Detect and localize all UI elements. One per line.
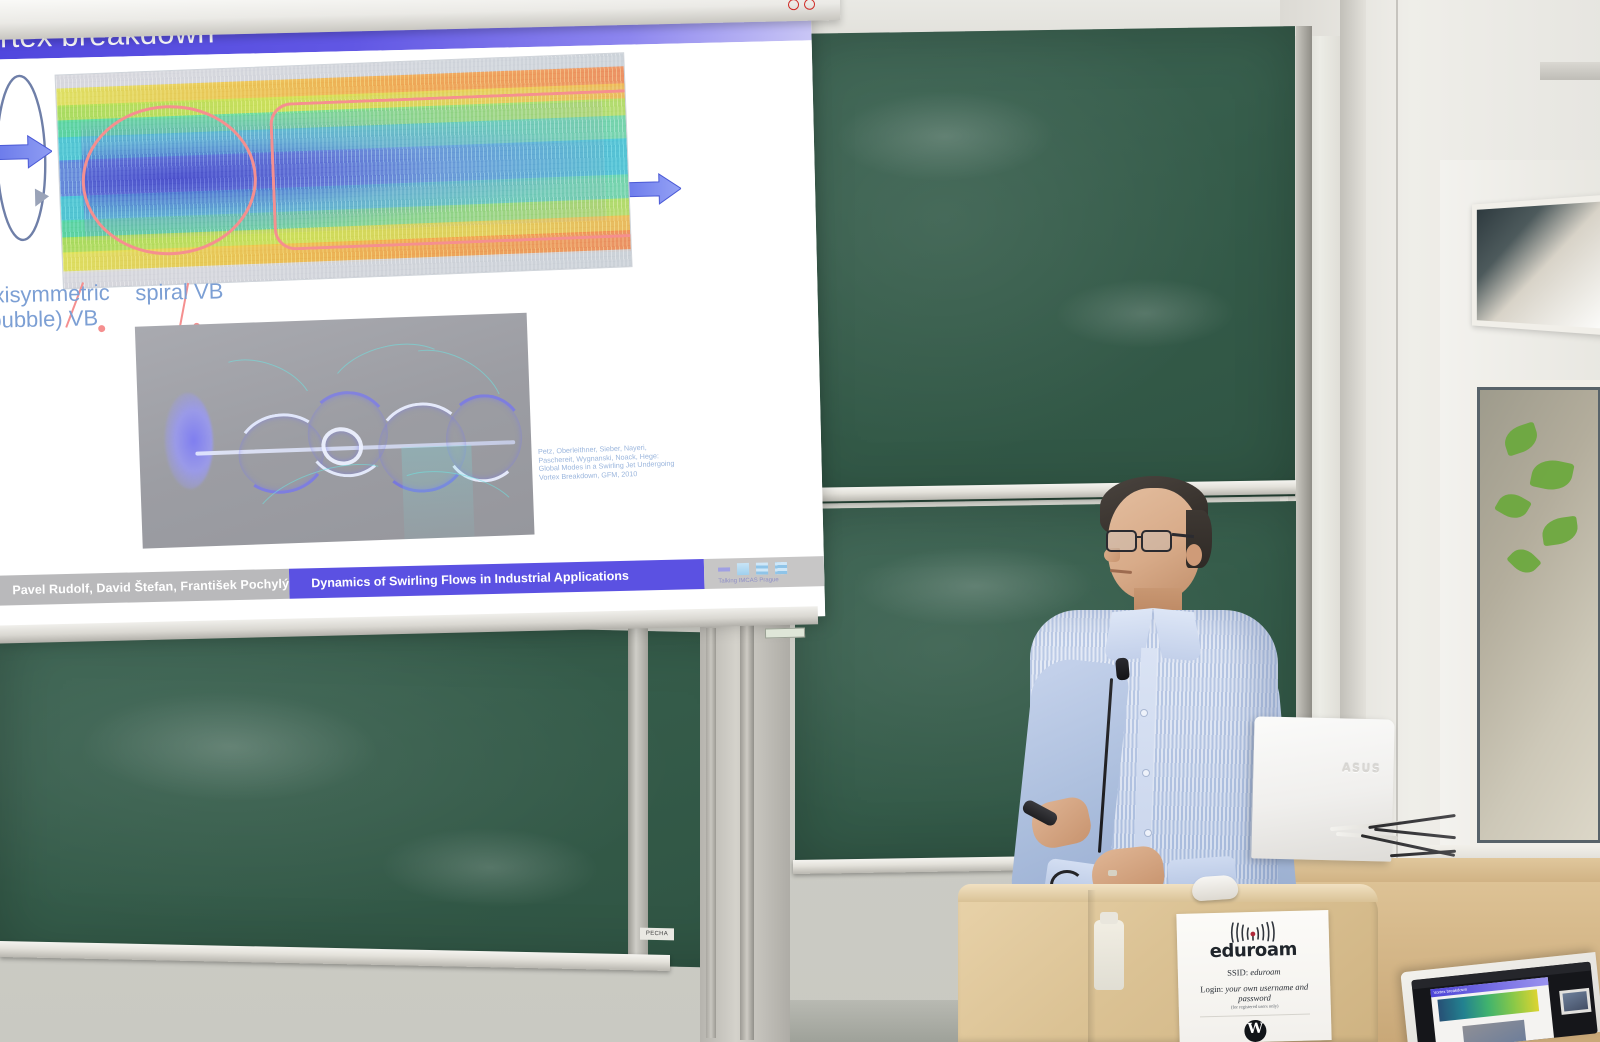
spiral-vb-annotation-outline: [269, 89, 633, 251]
warning-icon: [803, 0, 814, 9]
lapel-microphone: [1115, 657, 1130, 680]
projection-screen: Vortex breakdown: [0, 0, 825, 636]
window-sash-top[interactable]: [1472, 195, 1600, 336]
tablet-slide-preview: Vortex breakdown: [1430, 977, 1554, 1042]
water-bottle-cap: [1100, 912, 1118, 924]
ceiling-vent: [1540, 62, 1600, 80]
eduroam-login-label: Login:: [1200, 984, 1225, 995]
eyeglasses-bridge: [1137, 536, 1143, 538]
axial-flow-arrow-left-icon: [0, 133, 52, 171]
eduroam-ssid-line: SSID: eduroam: [1184, 965, 1324, 979]
presenter-ear: [1186, 544, 1202, 566]
water-bottle[interactable]: [1094, 920, 1124, 990]
computer-mouse[interactable]: [1191, 874, 1239, 901]
chalkboard-brand-label: PECHA: [640, 928, 674, 941]
wedding-ring: [1108, 870, 1117, 876]
asus-logo: ASUS: [1342, 762, 1382, 776]
layout-bar-icon: [718, 567, 730, 571]
foliage-leaf: [1494, 488, 1532, 524]
shirt-button: [1143, 770, 1149, 776]
label-axisymmetric-vb: axisymmetric (bubble) VB: [0, 280, 111, 333]
screen-support-rail: [740, 620, 754, 1040]
sign-divider: [1200, 1014, 1309, 1018]
eduroam-ssid-value: eduroam: [1250, 966, 1280, 977]
shirt-button: [1145, 830, 1151, 836]
shirt-button: [1141, 710, 1147, 716]
no-touch-icon: [787, 0, 798, 10]
window-glass-upper: [1477, 202, 1600, 329]
slide-footer-authors: Pavel Rudolf, David Štefan, František Po…: [0, 569, 290, 606]
tablet-jet-thumbnail: [1462, 1020, 1526, 1042]
eyeglasses-left-lens: [1106, 530, 1137, 552]
tablet-screen[interactable]: Vortex breakdown: [1411, 962, 1598, 1042]
podium-top-edge: [958, 884, 1378, 902]
foliage-leaf: [1540, 516, 1579, 547]
warning-sticker-icons: [777, 0, 825, 11]
eduroam-login-value: your own username and password: [1225, 982, 1308, 1004]
projection-screen-brand-tag: [765, 628, 805, 639]
figure-citation: Petz, Oberleithner, Sieber, Nayeri, Pasc…: [538, 443, 677, 483]
eduroam-login-line: Login: your own username and password: [1184, 981, 1324, 1005]
foliage-leaf: [1506, 543, 1541, 578]
cfd-vector-field-figure: [55, 52, 633, 289]
lecture-hall-scene: PECHA Vortex breakdown: [0, 0, 1600, 1042]
wall-strip: [1340, 0, 1366, 720]
screen-support-rail-secondary: [706, 628, 716, 1038]
tablet-side-panel: [1559, 988, 1591, 1015]
wall-corner-line: [1396, 0, 1398, 900]
eduroam-ssid-label: SSID:: [1227, 967, 1250, 978]
slide-footer-note: Talking IMCAS Prague: [718, 577, 778, 584]
tablet-side-thumbnail: [1562, 991, 1588, 1011]
slide-footer: Pavel Rudolf, David Štefan, František Po…: [0, 556, 824, 606]
conference-logo: [1244, 1020, 1267, 1042]
slide: Vortex breakdown: [0, 0, 825, 636]
eduroam-wifi-sign: eduroam SSID: eduroam Login: your own us…: [1176, 910, 1331, 1042]
layout-grid-icon: [775, 562, 787, 574]
foliage-leaf: [1529, 456, 1574, 494]
chalkboard-upper-right: [795, 26, 1295, 504]
label-spiral-vb: spiral VB: [135, 278, 224, 305]
slide-layout-icons: [718, 562, 787, 576]
swirling-jet-3d-figure: [135, 313, 535, 549]
slide-footer-right: Talking IMCAS Prague: [704, 556, 825, 589]
layout-rows-icon: [756, 562, 768, 574]
layout-single-icon: [737, 563, 749, 575]
eduroam-brand-text: eduroam: [1183, 938, 1324, 963]
chalkboard-divider: [628, 628, 648, 958]
slide-body: axisymmetric (bubble) VB spiral VB: [0, 40, 825, 635]
window-glass-lower: [1480, 390, 1598, 840]
cable-bundle: [1330, 818, 1460, 866]
eyeglasses-right-lens: [1141, 530, 1172, 552]
window-sash-bottom[interactable]: [1470, 380, 1600, 850]
jet-inlet-disc: [163, 392, 214, 490]
slide-footer-title: Dynamics of Swirling Flows in Industrial…: [289, 559, 705, 599]
foliage-leaf: [1501, 421, 1541, 456]
